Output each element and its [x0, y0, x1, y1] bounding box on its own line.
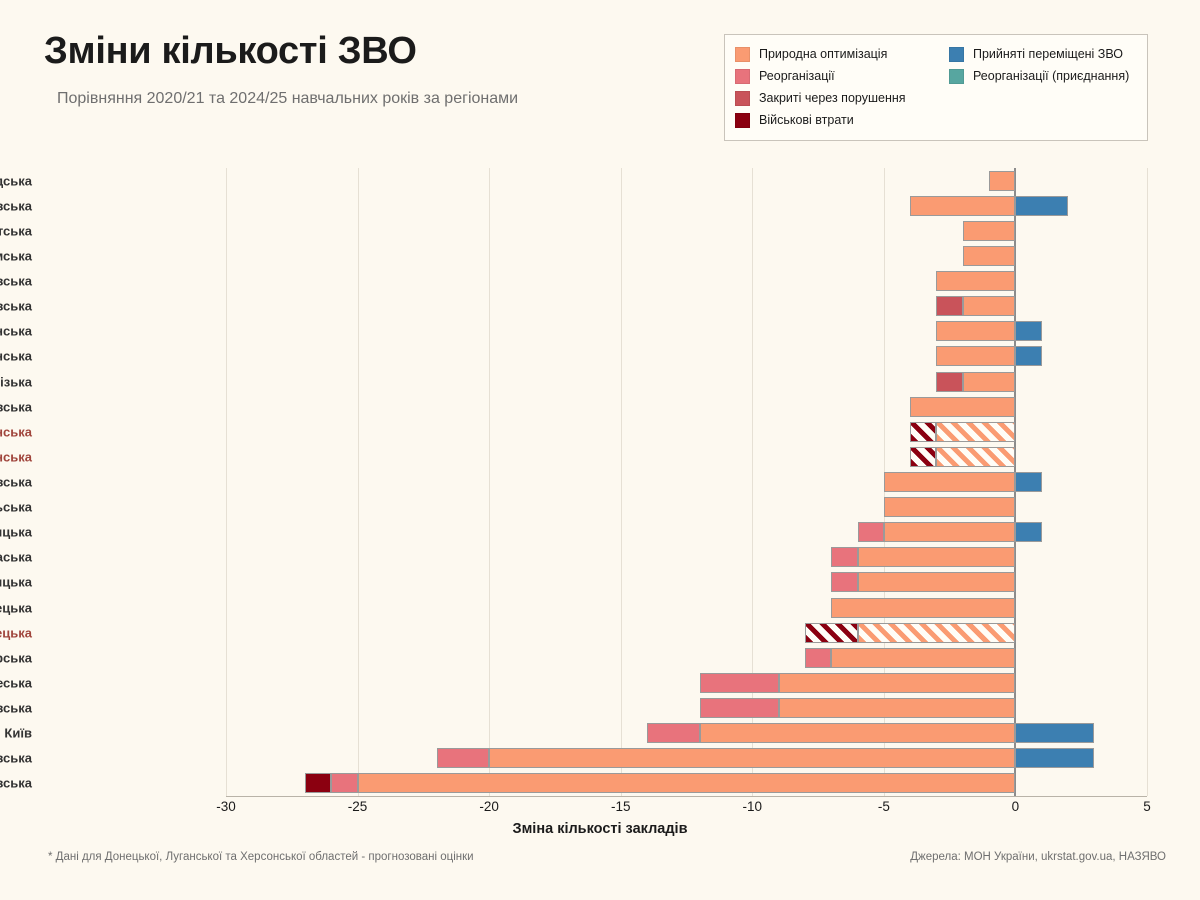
- bar-segment-relocated[interactable]: [1015, 748, 1094, 768]
- x-tick-label: -25: [348, 799, 368, 814]
- bar-row[interactable]: [226, 723, 1147, 743]
- y-axis-label: Херсонська: [0, 424, 32, 439]
- bar-row[interactable]: [226, 196, 1147, 216]
- bar-segment-relocated[interactable]: [1015, 472, 1041, 492]
- y-axis-label: м. Київ: [0, 726, 32, 741]
- bar-segment-natural[interactable]: [963, 246, 1016, 266]
- bar-row[interactable]: [226, 246, 1147, 266]
- bar-segment-violations[interactable]: [936, 372, 962, 392]
- y-axis-label: Миколаївська: [0, 299, 32, 314]
- legend-item-natural[interactable]: Природна оптимізація: [735, 43, 949, 65]
- y-axis-label: Запорізька: [0, 374, 32, 389]
- y-axis-label: Хмельницька: [0, 575, 32, 590]
- bar-row[interactable]: [226, 296, 1147, 316]
- footnote-note: * Дані для Донецької, Луганської та Херс…: [48, 851, 474, 863]
- x-axis-title: Зміна кількості закладів: [0, 821, 1200, 837]
- legend-swatch-reorg: [735, 69, 750, 84]
- legend-swatch-natural: [735, 47, 750, 62]
- x-tick-label: -5: [878, 799, 890, 814]
- bar-row[interactable]: [226, 346, 1147, 366]
- legend-label-natural: Природна оптимізація: [759, 47, 887, 61]
- legend-item-merged[interactable]: Реорганізації (приєднання): [949, 65, 1129, 87]
- bar-segment-natural[interactable]: [910, 196, 1015, 216]
- legend-swatch-violations: [735, 91, 750, 106]
- x-tick-label: 0: [1012, 799, 1020, 814]
- x-tick-label: -10: [743, 799, 763, 814]
- bar-row[interactable]: [226, 522, 1147, 542]
- x-tick-label: -30: [216, 799, 236, 814]
- y-axis-label: Київська: [0, 399, 32, 414]
- bar-segment-natural[interactable]: [858, 623, 1016, 643]
- y-axis-label: Полтавська: [0, 475, 32, 490]
- bar-row[interactable]: [226, 397, 1147, 417]
- legend-column-right: Прийняті переміщені ЗВО Реорганізації (п…: [949, 43, 1129, 131]
- bar-segment-natural[interactable]: [884, 472, 1016, 492]
- bar-segment-natural[interactable]: [963, 372, 1016, 392]
- bar-segment-natural[interactable]: [936, 422, 1015, 442]
- y-axis-label: Кіровоградська: [0, 173, 32, 188]
- legend-label-violations: Закриті через порушення: [759, 91, 906, 105]
- bar-segment-reorg[interactable]: [831, 572, 857, 592]
- bar-segment-natural[interactable]: [831, 598, 1015, 618]
- bar-row[interactable]: [226, 547, 1147, 567]
- page-subtitle: Порівняння 2020/21 та 2024/25 навчальних…: [57, 90, 518, 108]
- bar-segment-natural[interactable]: [963, 296, 1016, 316]
- y-axis-label: Закарпатська: [0, 223, 32, 238]
- legend-swatch-war: [735, 113, 750, 128]
- y-axis-label: Сумська: [0, 248, 32, 263]
- y-axis-label: Луганська: [0, 449, 32, 464]
- legend-column-left: Природна оптимізація Реорганізації Закри…: [735, 43, 949, 131]
- bar-row[interactable]: [226, 497, 1147, 517]
- y-axis-label: Львівська: [0, 701, 32, 716]
- y-axis-label: Чернівецька: [0, 600, 32, 615]
- bar-segment-reorg[interactable]: [831, 547, 857, 567]
- bar-row[interactable]: [226, 321, 1147, 341]
- bar-segment-relocated[interactable]: [1015, 522, 1041, 542]
- bar-row[interactable]: [226, 623, 1147, 643]
- bar-segment-violations[interactable]: [936, 296, 962, 316]
- legend-label-relocated: Прийняті переміщені ЗВО: [973, 47, 1123, 61]
- bar-segment-natural[interactable]: [884, 522, 1016, 542]
- bar-segment-war[interactable]: [910, 447, 936, 467]
- legend-swatch-relocated: [949, 47, 964, 62]
- y-axis-label: Житомирська: [0, 650, 32, 665]
- bar-segment-natural[interactable]: [936, 447, 1015, 467]
- y-axis-label: Донецька: [0, 625, 32, 640]
- bar-row[interactable]: [226, 271, 1147, 291]
- y-axis-label: Волинська: [0, 349, 32, 364]
- y-axis-label: Рівненська: [0, 324, 32, 339]
- x-tick-label: -20: [479, 799, 499, 814]
- bar-row[interactable]: [226, 221, 1147, 241]
- bar-segment-natural[interactable]: [489, 748, 1015, 768]
- bar-segment-natural[interactable]: [358, 773, 1016, 793]
- gridline: [1147, 168, 1148, 796]
- bar-segment-reorg[interactable]: [805, 648, 831, 668]
- legend-swatch-merged: [949, 69, 964, 84]
- legend-label-reorg: Реорганізації: [759, 69, 835, 83]
- bar-segment-reorg[interactable]: [647, 723, 700, 743]
- chart-plot-area: [226, 168, 1147, 796]
- bar-row[interactable]: [226, 572, 1147, 592]
- y-axis-label: Одеська: [0, 675, 32, 690]
- bar-segment-reorg[interactable]: [700, 673, 779, 693]
- legend-label-merged: Реорганізації (приєднання): [973, 69, 1129, 83]
- bar-segment-natural[interactable]: [779, 673, 1016, 693]
- bar-row[interactable]: [226, 472, 1147, 492]
- bar-segment-reorg[interactable]: [700, 698, 779, 718]
- page-title: Зміни кількості ЗВО: [44, 30, 417, 73]
- y-axis-label: Черкаська: [0, 550, 32, 565]
- legend-item-reorg[interactable]: Реорганізації: [735, 65, 949, 87]
- bar-segment-natural[interactable]: [936, 321, 1015, 341]
- x-tick-label: 5: [1143, 799, 1151, 814]
- y-axis-label: Харківська: [0, 776, 32, 791]
- bar-segment-natural[interactable]: [831, 648, 1015, 668]
- bar-row[interactable]: [226, 773, 1147, 793]
- y-axis-label: Івано-Франківська: [0, 198, 32, 213]
- y-axis-label: Тернопільська: [0, 500, 32, 515]
- bar-row[interactable]: [226, 372, 1147, 392]
- bar-segment-war[interactable]: [805, 623, 858, 643]
- bar-row[interactable]: [226, 698, 1147, 718]
- x-axis-line: [226, 796, 1147, 797]
- y-axis-label: Чернігівська: [0, 274, 32, 289]
- legend-label-war: Військові втрати: [759, 113, 854, 127]
- bar-segment-natural[interactable]: [858, 572, 1016, 592]
- bar-segment-reorg[interactable]: [437, 748, 490, 768]
- y-axis-label: Вінницька: [0, 525, 32, 540]
- bar-segment-relocated[interactable]: [1015, 196, 1068, 216]
- bar-segment-relocated[interactable]: [1015, 346, 1041, 366]
- bar-segment-natural[interactable]: [910, 397, 1015, 417]
- footnote-sources: Джерела: МОН України, ukrstat.gov.ua, НА…: [910, 851, 1166, 863]
- bar-segment-natural[interactable]: [936, 271, 1015, 291]
- bar-segment-natural[interactable]: [858, 547, 1016, 567]
- bar-segment-natural[interactable]: [963, 221, 1016, 241]
- bar-row[interactable]: [226, 673, 1147, 693]
- bar-row[interactable]: [226, 598, 1147, 618]
- bar-row[interactable]: [226, 422, 1147, 442]
- legend-item-war[interactable]: Військові втрати: [735, 109, 949, 131]
- chart-legend: Природна оптимізація Реорганізації Закри…: [724, 34, 1148, 141]
- bar-row[interactable]: [226, 648, 1147, 668]
- bar-segment-reorg[interactable]: [858, 522, 884, 542]
- bar-segment-natural[interactable]: [779, 698, 1016, 718]
- bar-segment-natural[interactable]: [884, 497, 1016, 517]
- bar-row[interactable]: [226, 748, 1147, 768]
- legend-item-violations[interactable]: Закриті через порушення: [735, 87, 949, 109]
- bar-segment-natural[interactable]: [700, 723, 1016, 743]
- bar-segment-natural[interactable]: [936, 346, 1015, 366]
- bar-segment-war[interactable]: [910, 422, 936, 442]
- bar-row[interactable]: [226, 171, 1147, 191]
- bar-segment-relocated[interactable]: [1015, 723, 1094, 743]
- chart-page: { "header": { "title": "Зміни кількості …: [0, 0, 1200, 900]
- legend-item-relocated[interactable]: Прийняті переміщені ЗВО: [949, 43, 1129, 65]
- bar-segment-natural[interactable]: [989, 171, 1015, 191]
- y-axis-label: Дніпропетровська: [0, 751, 32, 766]
- bar-row[interactable]: [226, 447, 1147, 467]
- bar-segment-relocated[interactable]: [1015, 321, 1041, 341]
- bar-segment-reorg[interactable]: [331, 773, 357, 793]
- x-tick-label: -15: [611, 799, 631, 814]
- bar-segment-war[interactable]: [305, 773, 331, 793]
